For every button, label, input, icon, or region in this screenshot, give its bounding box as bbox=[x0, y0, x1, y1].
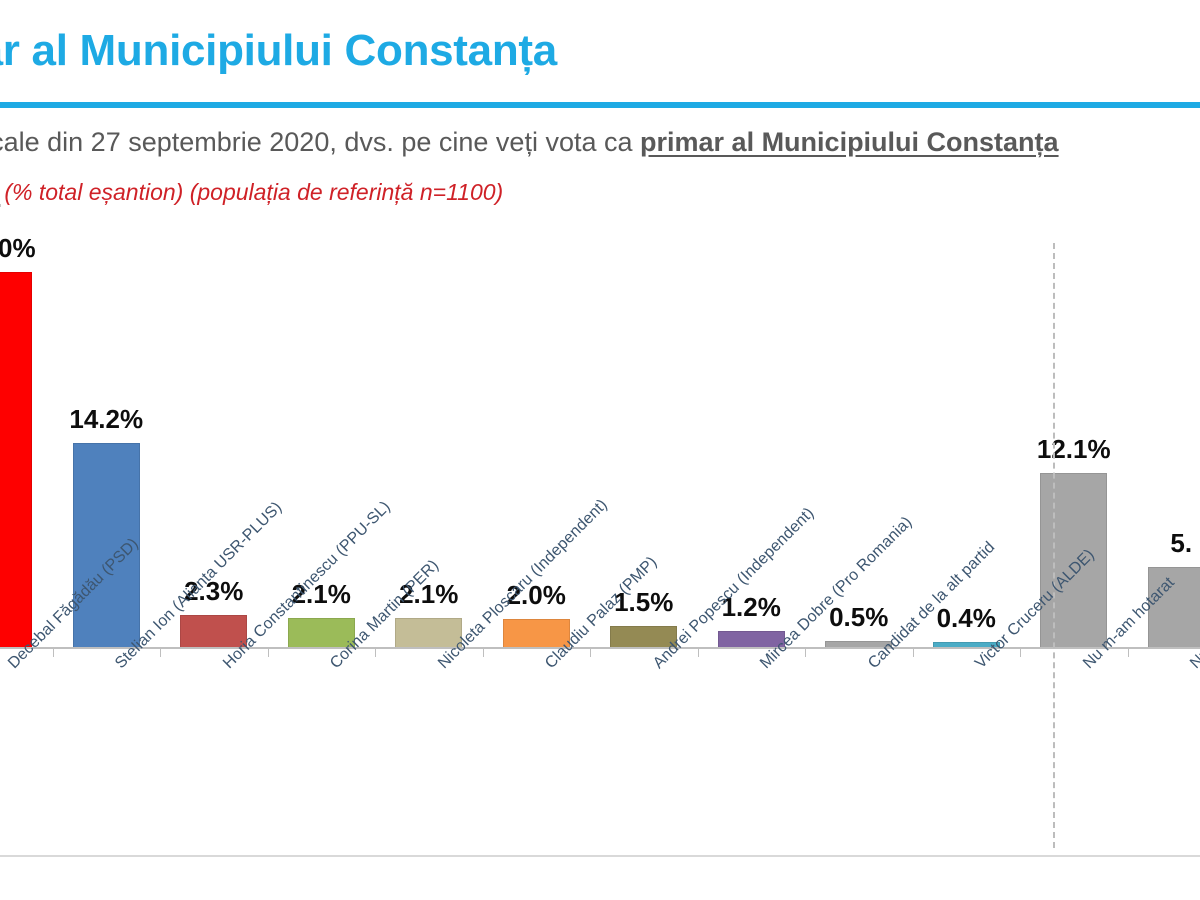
x-axis-tick bbox=[698, 648, 699, 657]
footer-bar: INSCOPRESEARCH www.inscop.ro bbox=[0, 857, 1200, 900]
bar[interactable] bbox=[0, 272, 32, 648]
x-axis-tick bbox=[160, 648, 161, 657]
x-axis-tick bbox=[590, 648, 591, 657]
x-axis-tick bbox=[53, 648, 54, 657]
x-axis-tick bbox=[268, 648, 269, 657]
chart-plot-area: 26.0%14.2%2.3%2.1%2.1%2.0%1.5%1.2%0.5%0.… bbox=[0, 243, 1200, 648]
x-axis-tick bbox=[1020, 648, 1021, 657]
question-prefix: La alegerile locale din 27 septembrie 20… bbox=[0, 127, 640, 157]
page-title: Primar al Municipiului Constanța bbox=[0, 28, 1200, 74]
subnote-text: ?(% total eșantion) (populația de referi… bbox=[0, 174, 1200, 207]
title-divider-rule bbox=[0, 102, 1200, 108]
question-text: La alegerile locale din 27 septembrie 20… bbox=[0, 128, 1200, 158]
x-axis-tick bbox=[1128, 648, 1129, 657]
chart-section-divider bbox=[1053, 243, 1055, 848]
x-axis-tick bbox=[375, 648, 376, 657]
x-axis-tick bbox=[805, 648, 806, 657]
x-axis-tick bbox=[483, 648, 484, 657]
sample-note: (% total eșantion) (populația de referin… bbox=[4, 179, 503, 205]
question-emphasis: primar al Municipiului Constanța bbox=[640, 127, 1059, 157]
slide-root: Primar al Municipiului Constanța La aleg… bbox=[0, 0, 1200, 900]
x-axis-tick bbox=[913, 648, 914, 657]
bar-group[interactable]: 26.0% bbox=[0, 243, 32, 648]
bar-value-label: 5. bbox=[1051, 528, 1200, 559]
